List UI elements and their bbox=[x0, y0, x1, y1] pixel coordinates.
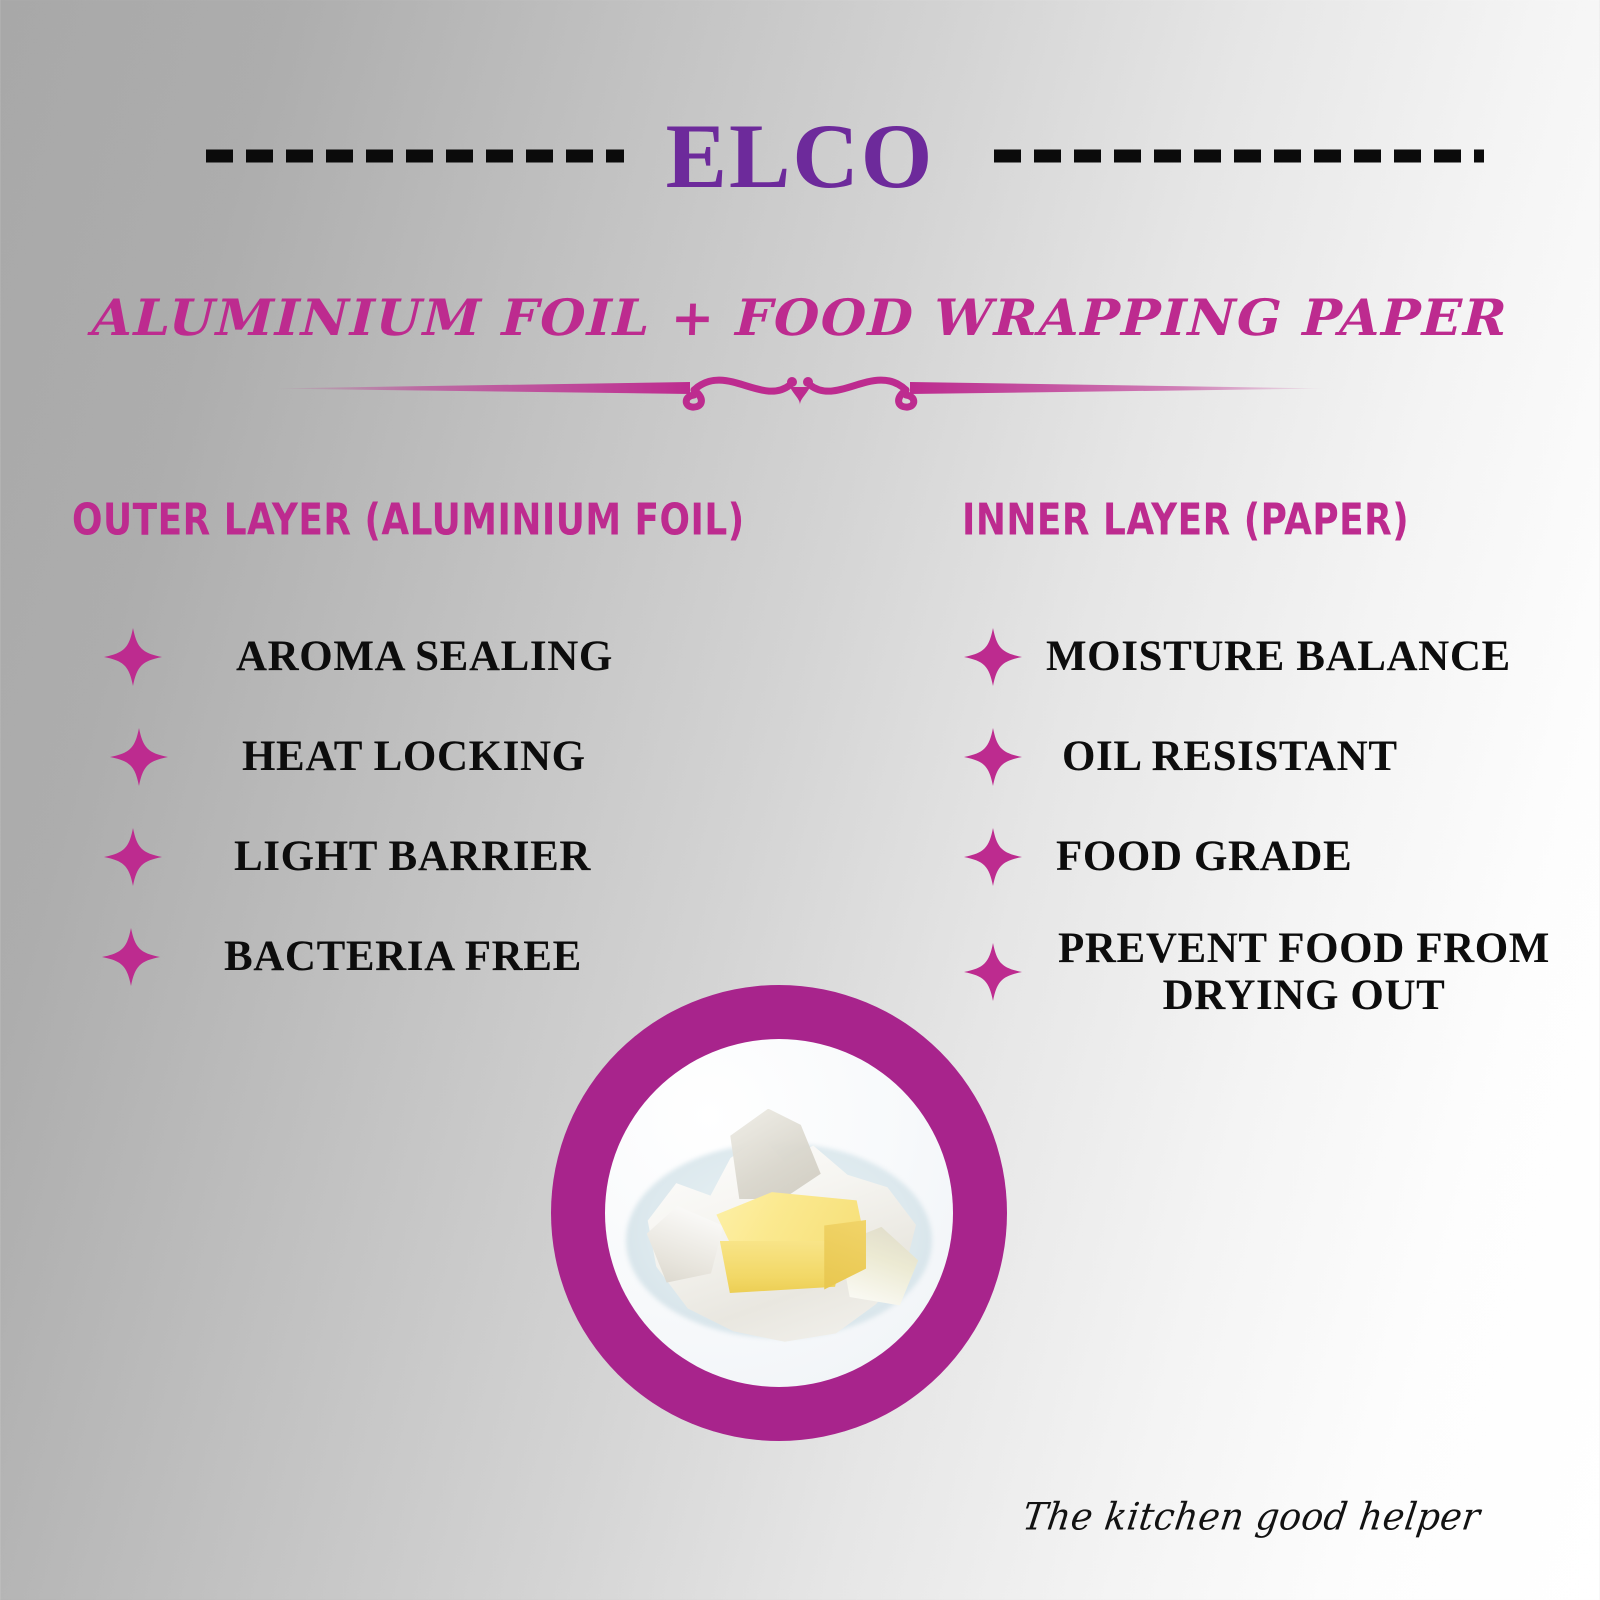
list-item-label: MOISTURE BALANCE bbox=[1046, 633, 1511, 680]
list-item: FOOD GRADE bbox=[962, 807, 1562, 907]
list-item: PREVENT FOOD FROM DRYING OUT bbox=[962, 907, 1562, 1037]
four-point-star-icon bbox=[100, 926, 162, 988]
product-photo-butter-on-wrapping-paper bbox=[605, 1039, 953, 1387]
list-item: OIL RESISTANT bbox=[962, 707, 1562, 807]
list-item-label: AROMA SEALING bbox=[236, 633, 613, 680]
four-point-star-icon bbox=[962, 626, 1024, 688]
footer-tagline: The kitchen good helper bbox=[1020, 1496, 1483, 1539]
four-point-star-icon bbox=[108, 726, 170, 788]
dashed-rule-right-icon bbox=[994, 150, 1484, 163]
header-rule-right bbox=[976, 108, 1456, 204]
list-item: LIGHT BARRIER bbox=[72, 807, 772, 907]
list-item: BACTERIA FREE bbox=[72, 907, 772, 1007]
list-item-label: PREVENT FOOD FROM DRYING OUT bbox=[1046, 925, 1562, 1020]
column-inner-layer: INNER LAYER (PAPER) MOISTURE BALANCE OIL… bbox=[962, 498, 1562, 1037]
brand-header: ELCO bbox=[0, 108, 1600, 204]
four-point-star-icon bbox=[962, 941, 1024, 1003]
feature-list-inner: MOISTURE BALANCE OIL RESISTANT FOOD GRAD… bbox=[962, 607, 1562, 1037]
four-point-star-icon bbox=[962, 726, 1024, 788]
four-point-star-icon bbox=[102, 626, 164, 688]
product-subtitle: ALUMINIUM FOIL + FOOD WRAPPING PAPER bbox=[0, 288, 1600, 347]
list-item-label: LIGHT BARRIER bbox=[234, 833, 591, 880]
list-item: AROMA SEALING bbox=[72, 607, 772, 707]
header-rule-left bbox=[144, 108, 624, 204]
list-item-label: HEAT LOCKING bbox=[242, 733, 586, 780]
brand-name: ELCO bbox=[624, 110, 977, 202]
list-item-label: BACTERIA FREE bbox=[224, 933, 582, 980]
product-image-ring bbox=[551, 985, 1007, 1441]
list-item: MOISTURE BALANCE bbox=[962, 607, 1562, 707]
column-outer-layer: OUTER LAYER (ALUMINIUM FOIL) AROMA SEALI… bbox=[72, 498, 772, 1007]
column-heading-outer: OUTER LAYER (ALUMINIUM FOIL) bbox=[72, 498, 751, 542]
column-heading-inner: INNER LAYER (PAPER) bbox=[962, 498, 1544, 542]
list-item-label: OIL RESISTANT bbox=[1062, 733, 1398, 780]
list-item: HEAT LOCKING bbox=[72, 707, 772, 807]
ornament-divider bbox=[0, 365, 1600, 411]
four-point-star-icon bbox=[962, 826, 1024, 888]
dashed-rule-left-icon bbox=[206, 150, 624, 163]
flourish-icon bbox=[270, 365, 1330, 411]
list-item-label: FOOD GRADE bbox=[1056, 833, 1352, 880]
feature-list-outer: AROMA SEALING HEAT LOCKING LIGHT BARRIER… bbox=[72, 607, 772, 1007]
feature-columns: OUTER LAYER (ALUMINIUM FOIL) AROMA SEALI… bbox=[0, 498, 1600, 1038]
four-point-star-icon bbox=[102, 826, 164, 888]
